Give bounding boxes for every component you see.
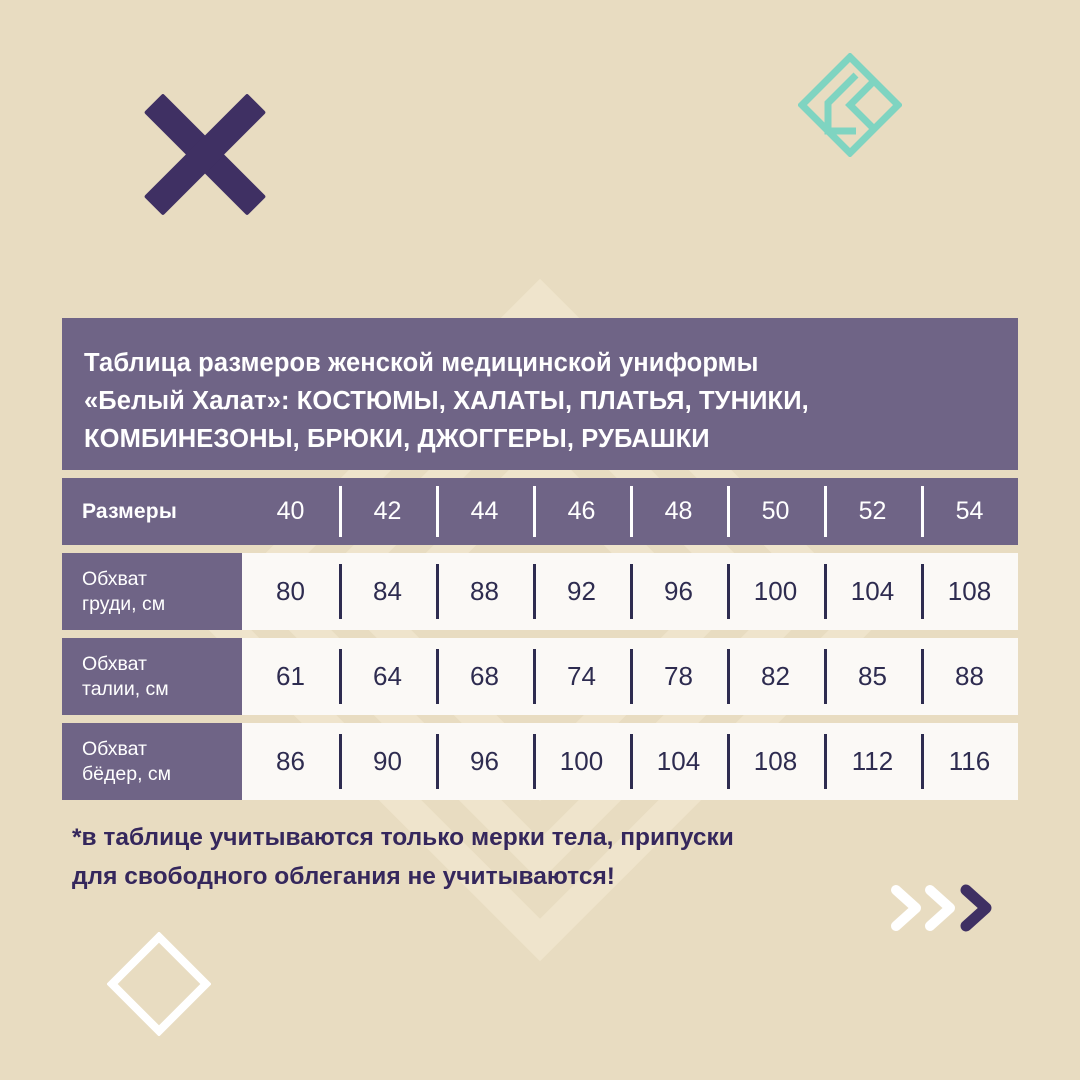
table-cell: 80 xyxy=(242,553,339,630)
table-cell: 96 xyxy=(630,553,727,630)
diamond-outline-icon xyxy=(107,932,211,1036)
table-cell: 78 xyxy=(630,638,727,715)
table-cell: 108 xyxy=(727,723,824,800)
table-cell: 88 xyxy=(921,638,1018,715)
table-cell: 104 xyxy=(630,723,727,800)
header-label-text: Размеры xyxy=(82,500,177,524)
infographic-canvas: Таблица размеров женской медицинской уни… xyxy=(0,0,1080,1080)
table-row: Обхват талии, см 61 64 68 74 78 82 85 88 xyxy=(62,638,1018,715)
size-header-cell: 42 xyxy=(339,478,436,545)
table-cell: 100 xyxy=(533,723,630,800)
row-value-cells: 61 64 68 74 78 82 85 88 xyxy=(242,638,1018,715)
table-cell: 90 xyxy=(339,723,436,800)
table-cell: 74 xyxy=(533,638,630,715)
table-cell: 61 xyxy=(242,638,339,715)
table-cell: 112 xyxy=(824,723,921,800)
table-cell: 86 xyxy=(242,723,339,800)
row-label-cell: Обхват груди, см xyxy=(62,553,242,630)
row-label-text: Обхват груди, см xyxy=(82,567,165,617)
row-label-cell: Обхват бёдер, см xyxy=(62,723,242,800)
size-header-cell: 40 xyxy=(242,478,339,545)
table-cell: 68 xyxy=(436,638,533,715)
table-row: Обхват бёдер, см 86 90 96 100 104 108 11… xyxy=(62,723,1018,800)
title-line-2: «Белый Халат»: КОСТЮМЫ, ХАЛАТЫ, ПЛАТЬЯ, … xyxy=(84,382,1018,420)
header-label-cell: Размеры xyxy=(62,478,242,545)
footnote-text: *в таблице учитываются только мерки тела… xyxy=(72,818,972,896)
size-header-cell: 52 xyxy=(824,478,921,545)
size-header-cell: 46 xyxy=(533,478,630,545)
row-value-cells: 86 90 96 100 104 108 112 116 xyxy=(242,723,1018,800)
header-size-cells: 40 42 44 46 48 50 52 54 xyxy=(242,478,1018,545)
table-cell: 116 xyxy=(921,723,1018,800)
table-cell: 64 xyxy=(339,638,436,715)
table-cell: 108 xyxy=(921,553,1018,630)
table-cell: 82 xyxy=(727,638,824,715)
title-line-1: Таблица размеров женской медицинской уни… xyxy=(84,344,1018,382)
size-header-cell: 44 xyxy=(436,478,533,545)
table-cell: 96 xyxy=(436,723,533,800)
row-value-cells: 80 84 88 92 96 100 104 108 xyxy=(242,553,1018,630)
table-header-row: Размеры 40 42 44 46 48 50 52 54 xyxy=(62,478,1018,545)
title-line-3: КОМБИНЕЗОНЫ, БРЮКИ, ДЖОГГЕРЫ, РУБАШКИ xyxy=(84,420,1018,458)
row-label-text: Обхват бёдер, см xyxy=(82,737,171,787)
row-label-cell: Обхват талии, см xyxy=(62,638,242,715)
row-label-text: Обхват талии, см xyxy=(82,652,169,702)
x-mark-icon xyxy=(143,92,267,216)
table-cell: 85 xyxy=(824,638,921,715)
table-cell: 92 xyxy=(533,553,630,630)
size-header-cell: 50 xyxy=(727,478,824,545)
size-table: Размеры 40 42 44 46 48 50 52 54 Обхват г… xyxy=(62,478,1018,808)
table-row: Обхват груди, см 80 84 88 92 96 100 104 … xyxy=(62,553,1018,630)
nested-diamond-icon xyxy=(798,53,902,157)
table-cell: 88 xyxy=(436,553,533,630)
title-band: Таблица размеров женской медицинской уни… xyxy=(62,318,1018,470)
table-cell: 104 xyxy=(824,553,921,630)
size-header-cell: 54 xyxy=(921,478,1018,545)
table-cell: 84 xyxy=(339,553,436,630)
table-cell: 100 xyxy=(727,553,824,630)
size-header-cell: 48 xyxy=(630,478,727,545)
